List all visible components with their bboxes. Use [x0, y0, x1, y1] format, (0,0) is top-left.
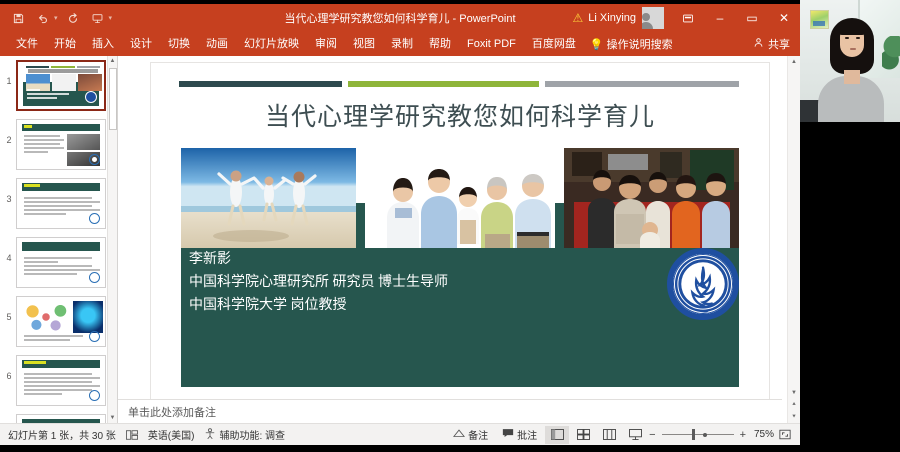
- undo-icon[interactable]: [33, 9, 53, 28]
- slide-edit-pane: 当代心理学研究教您如何科学育儿: [118, 56, 800, 423]
- accessibility-status[interactable]: 辅助功能: 调查: [204, 427, 285, 442]
- list-item[interactable]: 5: [0, 296, 107, 347]
- comment-bubble-icon: [502, 428, 514, 441]
- share-label: 共享: [768, 36, 790, 52]
- language-indicator[interactable]: 英语(美国): [148, 427, 195, 442]
- slide-thumbnail-3[interactable]: [16, 178, 106, 229]
- zoom-out-button[interactable]: −: [649, 429, 655, 441]
- slide-thumbnail-pane: 1 2: [0, 56, 118, 423]
- list-item[interactable]: 2: [0, 119, 107, 170]
- ribbon-tab-transitions[interactable]: 切换: [160, 32, 198, 56]
- editor-body: 1 2: [0, 56, 800, 423]
- accent-bar-green: [348, 81, 540, 87]
- title-bar: ▾ ▾ 当代心理学研究教您如何科学育儿 - PowerPoint ⚠ Li Xi…: [0, 4, 800, 32]
- ribbon-tab-home[interactable]: 开始: [46, 32, 84, 56]
- slide-title[interactable]: 当代心理学研究教您如何科学育儿: [151, 97, 769, 133]
- notes-pane[interactable]: 单击此处添加备注: [118, 399, 782, 423]
- slide-thumbnail-4[interactable]: [16, 237, 106, 288]
- close-button[interactable]: ✕: [768, 4, 800, 32]
- status-bar-right: 备注 批注: [447, 425, 800, 444]
- slide-number: 7: [2, 414, 16, 423]
- slide-number: 4: [2, 237, 16, 263]
- maximize-button[interactable]: ▭: [736, 4, 768, 32]
- redo-icon[interactable]: [63, 9, 83, 28]
- slide-sorter-icon[interactable]: [571, 426, 595, 444]
- webcam-person-eye-right: [856, 37, 860, 39]
- ribbon-tab-design[interactable]: 设计: [122, 32, 160, 56]
- notes-icon: [453, 429, 465, 441]
- webcam-person-eye-left: [845, 37, 849, 39]
- webcam-plant: [882, 36, 900, 70]
- ribbon-tab-help[interactable]: 帮助: [421, 32, 459, 56]
- presenter-webcam-video[interactable]: [800, 0, 900, 122]
- status-bar: 幻灯片第 1 张，共 30 张 英语(美国) 辅助功能: 调查: [0, 423, 800, 445]
- ribbon-tab-view[interactable]: 视图: [345, 32, 383, 56]
- share-person-icon: [753, 37, 764, 51]
- zoom-level[interactable]: 75%: [748, 429, 774, 440]
- scroll-down-icon[interactable]: ▼: [108, 413, 117, 423]
- list-item[interactable]: 6: [0, 355, 107, 406]
- three-generation-family-photo[interactable]: [365, 148, 555, 248]
- slide-number: 6: [2, 355, 16, 381]
- normal-view-icon[interactable]: [545, 426, 569, 444]
- ribbon-tab-slideshow[interactable]: 幻灯片放映: [236, 32, 307, 56]
- institute-of-psychology-cas-logo[interactable]: [667, 248, 739, 320]
- ribbon-tab-baidu-netdisk[interactable]: 百度网盘: [524, 32, 584, 56]
- reading-view-icon[interactable]: [597, 426, 621, 444]
- notes-label: 备注: [468, 427, 488, 442]
- comments-button[interactable]: 批注: [496, 425, 543, 444]
- quick-access-toolbar: ▾ ▾: [0, 9, 112, 28]
- scroll-up-icon[interactable]: ▲: [788, 56, 800, 68]
- logo-ring-text: [673, 254, 733, 314]
- tell-me-search[interactable]: 💡 操作说明搜索: [590, 36, 673, 52]
- presenter-info[interactable]: 李新影 中国科学院心理研究所 研究员 博士生导师 中国科学院大学 岗位教授: [189, 248, 448, 317]
- warning-triangle-icon[interactable]: ⚠: [573, 11, 584, 25]
- thumbnail-scrollbar[interactable]: ▲ ▼: [107, 56, 117, 423]
- presenter-affiliation-2: 中国科学院大学 岗位教授: [189, 294, 448, 317]
- zoom-slider-default-marker: [703, 433, 707, 437]
- title-bar-right: ⚠ Li Xinying – ▭ ✕: [573, 4, 800, 32]
- slide-thumbnail-7[interactable]: [16, 414, 106, 423]
- save-icon[interactable]: [8, 9, 28, 28]
- screen: ▾ ▾ 当代心理学研究教您如何科学育儿 - PowerPoint ⚠ Li Xi…: [0, 0, 900, 452]
- slide-count-text[interactable]: 幻灯片第 1 张，共 30 张: [8, 427, 116, 442]
- zoom-slider-handle[interactable]: [692, 429, 695, 440]
- family-on-couch-photo[interactable]: [564, 148, 739, 248]
- ribbon-tab-bar: 文件 开始 插入 设计 切换 动画 幻灯片放映 审阅 视图 录制 帮助 Foxi…: [0, 32, 800, 56]
- ribbon-display-options-icon[interactable]: [672, 4, 704, 32]
- next-slide-icon[interactable]: ⯆: [788, 411, 800, 423]
- slide-layout-icon[interactable]: [126, 430, 138, 440]
- zoom-in-button[interactable]: +: [740, 429, 746, 441]
- account-name[interactable]: Li Xinying: [588, 12, 636, 24]
- accent-bar-dark: [179, 81, 342, 87]
- slide-thumbnail-6[interactable]: [16, 355, 106, 406]
- notes-placeholder: 单击此处添加备注: [128, 404, 216, 420]
- slide-thumbnail-list: 1 2: [0, 56, 107, 423]
- webcam-person-neck: [844, 70, 860, 84]
- accessibility-icon: [204, 428, 216, 442]
- slide-pane-scrollbar[interactable]: ▲ ▼ ⯅ ⯆: [787, 56, 800, 423]
- slide-thumbnail-1[interactable]: [16, 60, 106, 111]
- scrollbar-thumb[interactable]: [109, 68, 117, 130]
- slide-photo-row: [181, 148, 739, 248]
- family-on-beach-photo[interactable]: [181, 148, 356, 248]
- list-item[interactable]: 1: [0, 60, 107, 111]
- scroll-up-icon[interactable]: ▲: [108, 56, 117, 66]
- presenter-name: 李新影: [189, 248, 448, 271]
- ribbon-tab-insert[interactable]: 插入: [84, 32, 122, 56]
- fit-to-window-icon[interactable]: [776, 427, 794, 443]
- slide-number: 2: [2, 119, 16, 145]
- list-item[interactable]: 4: [0, 237, 107, 288]
- ribbon-tab-file[interactable]: 文件: [8, 32, 46, 56]
- slide-number: 3: [2, 178, 16, 204]
- list-item[interactable]: 7: [0, 414, 107, 423]
- webcam-person-mouth: [850, 48, 856, 50]
- webcam-wall-poster: [810, 10, 829, 29]
- powerpoint-window: ▾ ▾ 当代心理学研究教您如何科学育儿 - PowerPoint ⚠ Li Xi…: [0, 4, 800, 445]
- zoom-slider[interactable]: [662, 434, 734, 435]
- ribbon-tab-animations[interactable]: 动画: [198, 32, 236, 56]
- presenter-affiliation-1: 中国科学院心理研究所 研究员 博士生导师: [189, 271, 448, 294]
- slide-thumbnail-2[interactable]: [16, 119, 106, 170]
- user-avatar-icon[interactable]: [642, 7, 664, 29]
- customize-quick-access-icon[interactable]: ▾: [109, 14, 113, 22]
- presentation-icon[interactable]: [88, 9, 108, 28]
- accent-bars: [179, 81, 739, 87]
- minimize-button[interactable]: –: [704, 4, 736, 32]
- slide-number: 1: [2, 60, 16, 86]
- comments-label: 批注: [517, 427, 537, 442]
- lightbulb-icon: 💡: [590, 38, 604, 51]
- slide-thumbnail-5[interactable]: [16, 296, 106, 347]
- ribbon-tab-foxit-pdf[interactable]: Foxit PDF: [459, 32, 524, 56]
- slide-canvas[interactable]: 当代心理学研究教您如何科学育儿: [150, 62, 770, 402]
- status-bar-left: 幻灯片第 1 张，共 30 张 英语(美国) 辅助功能: 调查: [0, 427, 285, 442]
- tell-me-label: 操作说明搜索: [607, 36, 673, 52]
- webcam-person-fringe: [838, 22, 866, 35]
- slide-number: 5: [2, 296, 16, 322]
- list-item[interactable]: 3: [0, 178, 107, 229]
- undo-dropdown-icon[interactable]: ▾: [54, 14, 58, 22]
- accessibility-label: 辅助功能: 调查: [219, 427, 285, 442]
- ribbon-tab-record[interactable]: 录制: [383, 32, 421, 56]
- ribbon-tab-review[interactable]: 审阅: [307, 32, 345, 56]
- share-button[interactable]: 共享: [753, 36, 790, 52]
- slideshow-icon[interactable]: [623, 426, 647, 444]
- scroll-down-icon[interactable]: ▼: [788, 387, 800, 399]
- previous-slide-icon[interactable]: ⯅: [788, 399, 800, 411]
- accent-bar-gray: [545, 81, 739, 87]
- zoom-slider-track[interactable]: [662, 434, 734, 435]
- notes-button[interactable]: 备注: [447, 425, 494, 444]
